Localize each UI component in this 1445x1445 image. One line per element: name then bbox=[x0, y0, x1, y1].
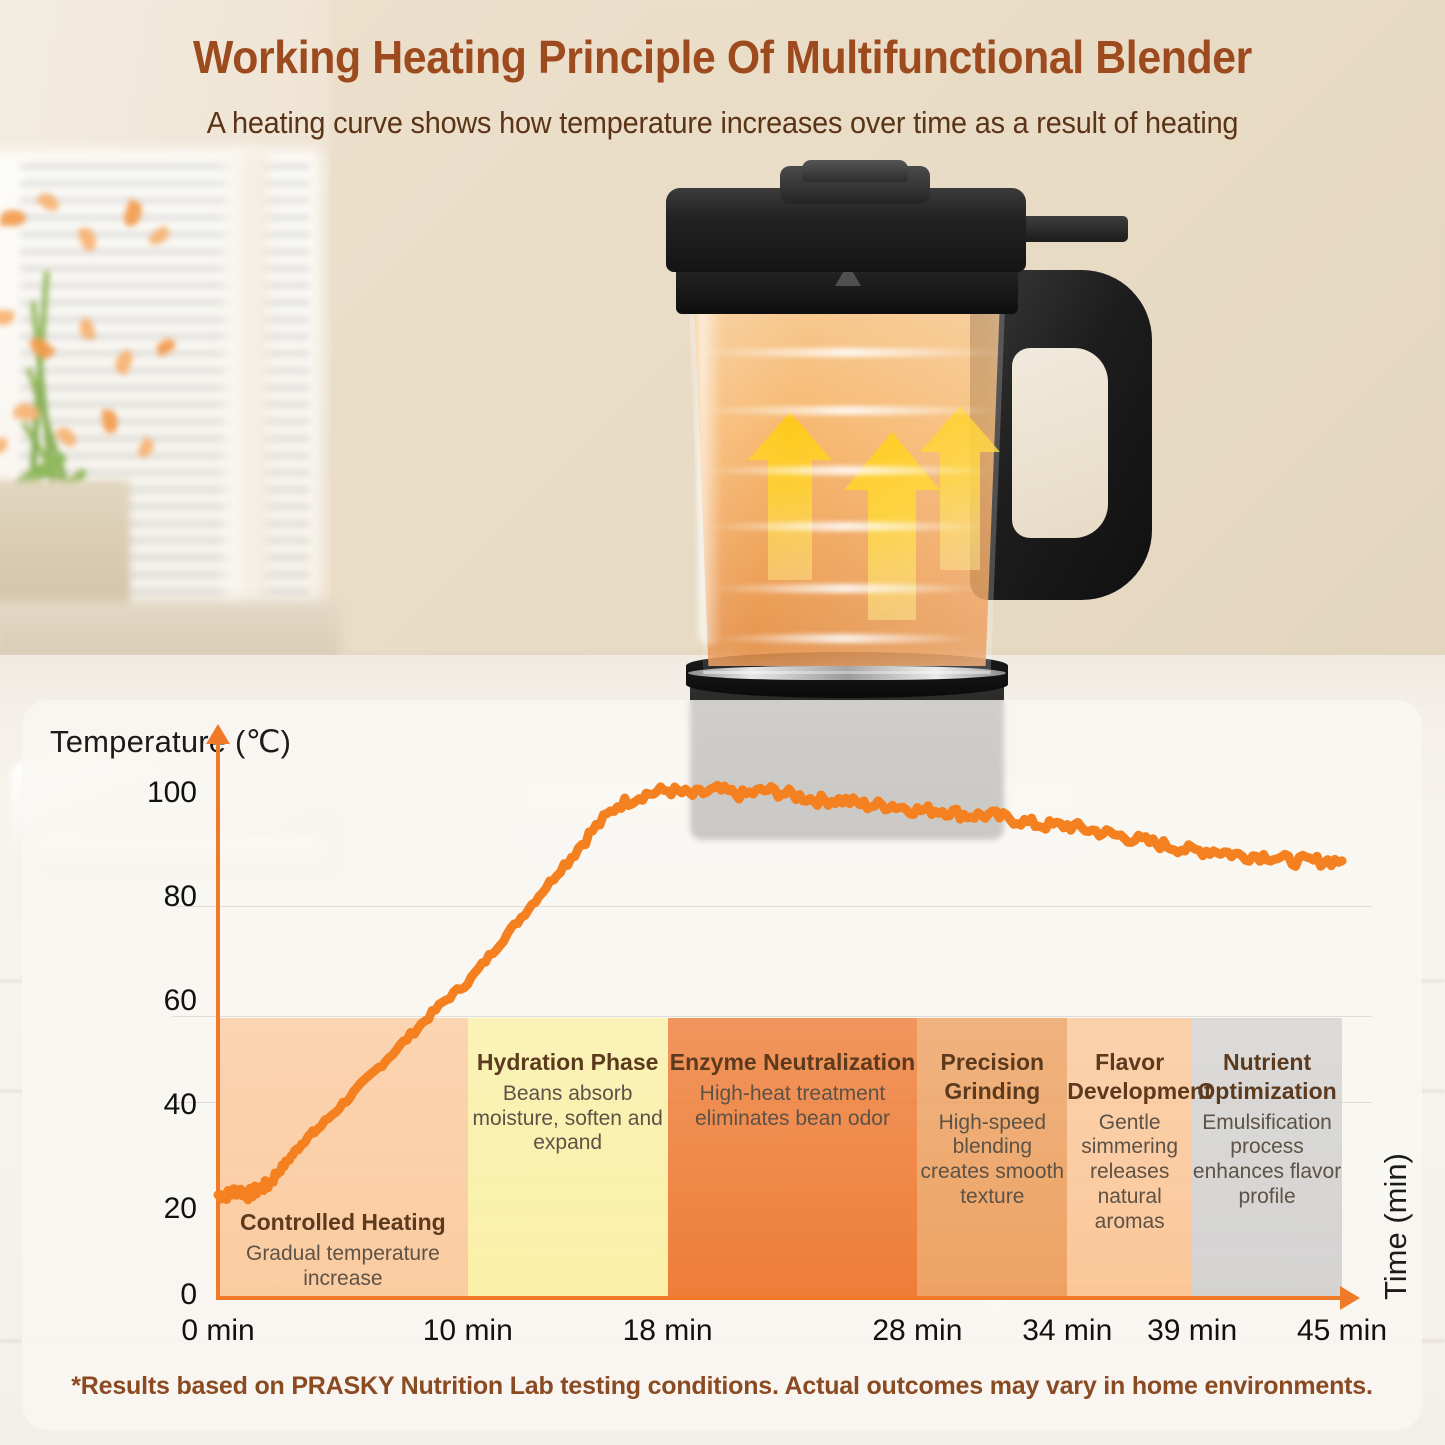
heating-curve-chart-panel: Temperature (℃) 100 80 60 40 20 0 Contro… bbox=[22, 700, 1422, 1430]
phase-title: Hydration Phase bbox=[468, 1048, 668, 1077]
phase-label: Controlled HeatingGradual temperature in… bbox=[218, 1208, 468, 1291]
phase-label: Flavor DevelopmentGentle simmering relea… bbox=[1067, 1048, 1192, 1234]
plant-flower bbox=[78, 317, 96, 341]
phase-title: Flavor Development bbox=[1067, 1048, 1192, 1106]
phase-title: Enzyme Neutralization bbox=[668, 1048, 918, 1077]
plant-flower bbox=[0, 210, 26, 226]
x-tick-label: 0 min bbox=[143, 1314, 293, 1348]
page-title: Working Heating Principle Of Multifuncti… bbox=[51, 30, 1395, 84]
phase-description: High-speed blending creates smooth textu… bbox=[917, 1111, 1067, 1210]
phase-description: Emulsification process enhances flavor p… bbox=[1192, 1111, 1342, 1210]
phase-title: Nutrient Optimization bbox=[1192, 1048, 1342, 1106]
plant-flower bbox=[36, 190, 62, 214]
phase-label: Precision GrindingHigh-speed blending cr… bbox=[917, 1048, 1067, 1210]
phase-description: Gradual temperature increase bbox=[218, 1242, 468, 1292]
footnote-disclaimer: *Results based on PRASKY Nutrition Lab t… bbox=[22, 1372, 1422, 1401]
phase-label: Nutrient OptimizationEmulsification proc… bbox=[1192, 1048, 1342, 1210]
x-tick-label: 10 min bbox=[393, 1314, 543, 1348]
phase-title: Precision Grinding bbox=[917, 1048, 1067, 1106]
plant-flower bbox=[54, 424, 79, 450]
x-tick-label: 39 min bbox=[1117, 1314, 1267, 1348]
x-tick-label: 45 min bbox=[1267, 1314, 1417, 1348]
page-subtitle: A heating curve shows how temperature in… bbox=[51, 105, 1395, 141]
plant-flower bbox=[154, 336, 178, 357]
plant-flower bbox=[101, 409, 118, 434]
x-axis-label: Time (min) bbox=[1378, 1153, 1414, 1300]
plant-flower bbox=[121, 199, 145, 229]
plant-flower bbox=[0, 436, 10, 457]
phase-title: Controlled Heating bbox=[218, 1208, 468, 1237]
plant-flower bbox=[0, 309, 15, 326]
x-tick-label: 28 min bbox=[842, 1314, 992, 1348]
plant-flower bbox=[146, 225, 172, 248]
plant-flower bbox=[135, 437, 156, 461]
x-tick-label: 18 min bbox=[593, 1314, 743, 1348]
phase-description: High-heat treatment eliminates bean odor bbox=[668, 1082, 918, 1132]
phase-description: Beans absorb moisture, soften and expand bbox=[468, 1082, 668, 1156]
blender-product-image: WARNING bbox=[640, 160, 1160, 780]
phase-label: Hydration PhaseBeans absorb moisture, so… bbox=[468, 1048, 668, 1156]
phase-description: Gentle simmering releases natural aromas bbox=[1067, 1111, 1192, 1235]
plant-flower bbox=[112, 347, 136, 375]
phase-label: Enzyme NeutralizationHigh-heat treatment… bbox=[668, 1048, 918, 1131]
plant-flower bbox=[77, 226, 98, 253]
lid-knob bbox=[802, 160, 908, 182]
infographic-root: WARNING bbox=[0, 0, 1445, 1445]
chart-area: Temperature (℃) 100 80 60 40 20 0 Contro… bbox=[22, 700, 1422, 1430]
